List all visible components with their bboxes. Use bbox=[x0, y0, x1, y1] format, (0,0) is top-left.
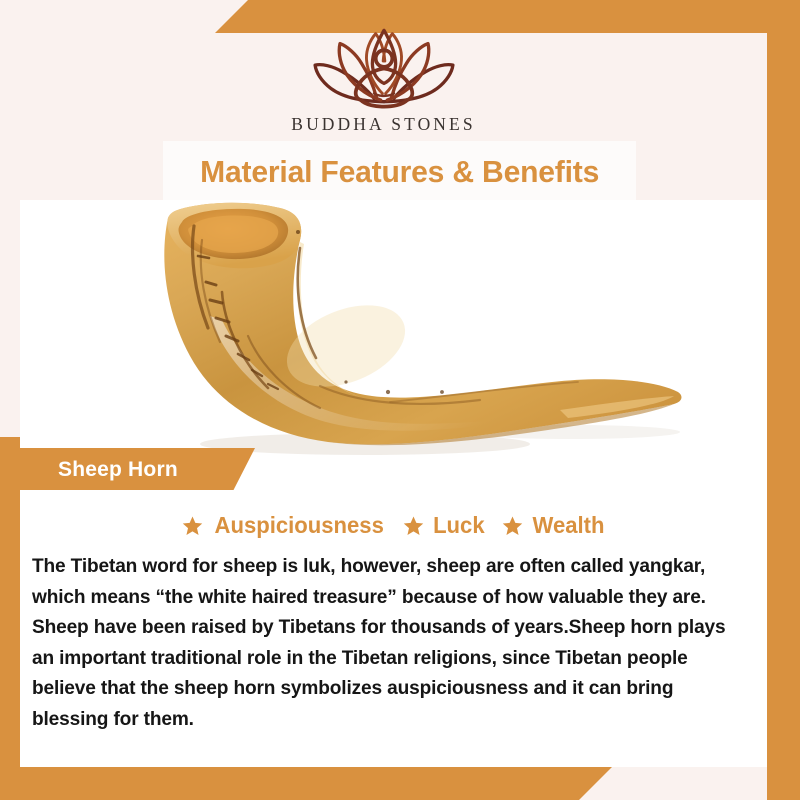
brand-logo: BUDDHA STONES bbox=[0, 22, 767, 135]
title-banner: Material Features & Benefits bbox=[163, 141, 636, 203]
product-photo bbox=[20, 200, 767, 490]
benefit-label: Auspiciousness bbox=[214, 512, 383, 539]
benefit-item: Wealth bbox=[501, 512, 606, 539]
benefit-item: Luck bbox=[402, 512, 486, 539]
content-panel: Auspiciousness Luck Wealth The Tibetan w… bbox=[20, 490, 767, 767]
star-icon bbox=[181, 515, 204, 537]
description-text: The Tibetan word for sheep is luk, howev… bbox=[32, 551, 744, 734]
product-label: Sheep Horn bbox=[58, 458, 178, 482]
brand-name: BUDDHA STONES bbox=[291, 114, 475, 135]
benefit-label: Luck bbox=[433, 512, 485, 539]
frame-left-bar bbox=[0, 437, 22, 800]
product-label-band: Sheep Horn bbox=[20, 448, 255, 491]
benefits-list: Auspiciousness Luck Wealth bbox=[20, 490, 767, 539]
benefit-label: Wealth bbox=[533, 512, 605, 539]
star-icon bbox=[402, 515, 425, 537]
star-icon bbox=[501, 515, 524, 537]
frame-right-bar bbox=[767, 0, 800, 800]
lotus-meditation-figure-icon bbox=[301, 22, 467, 110]
benefit-item: Auspiciousness bbox=[181, 512, 387, 539]
sheep-horn-image bbox=[150, 200, 690, 466]
infographic-page: BUDDHA STONES Material Features & Benefi… bbox=[0, 0, 800, 800]
frame-bottom-bar bbox=[0, 767, 612, 800]
page-title: Material Features & Benefits bbox=[200, 154, 599, 190]
